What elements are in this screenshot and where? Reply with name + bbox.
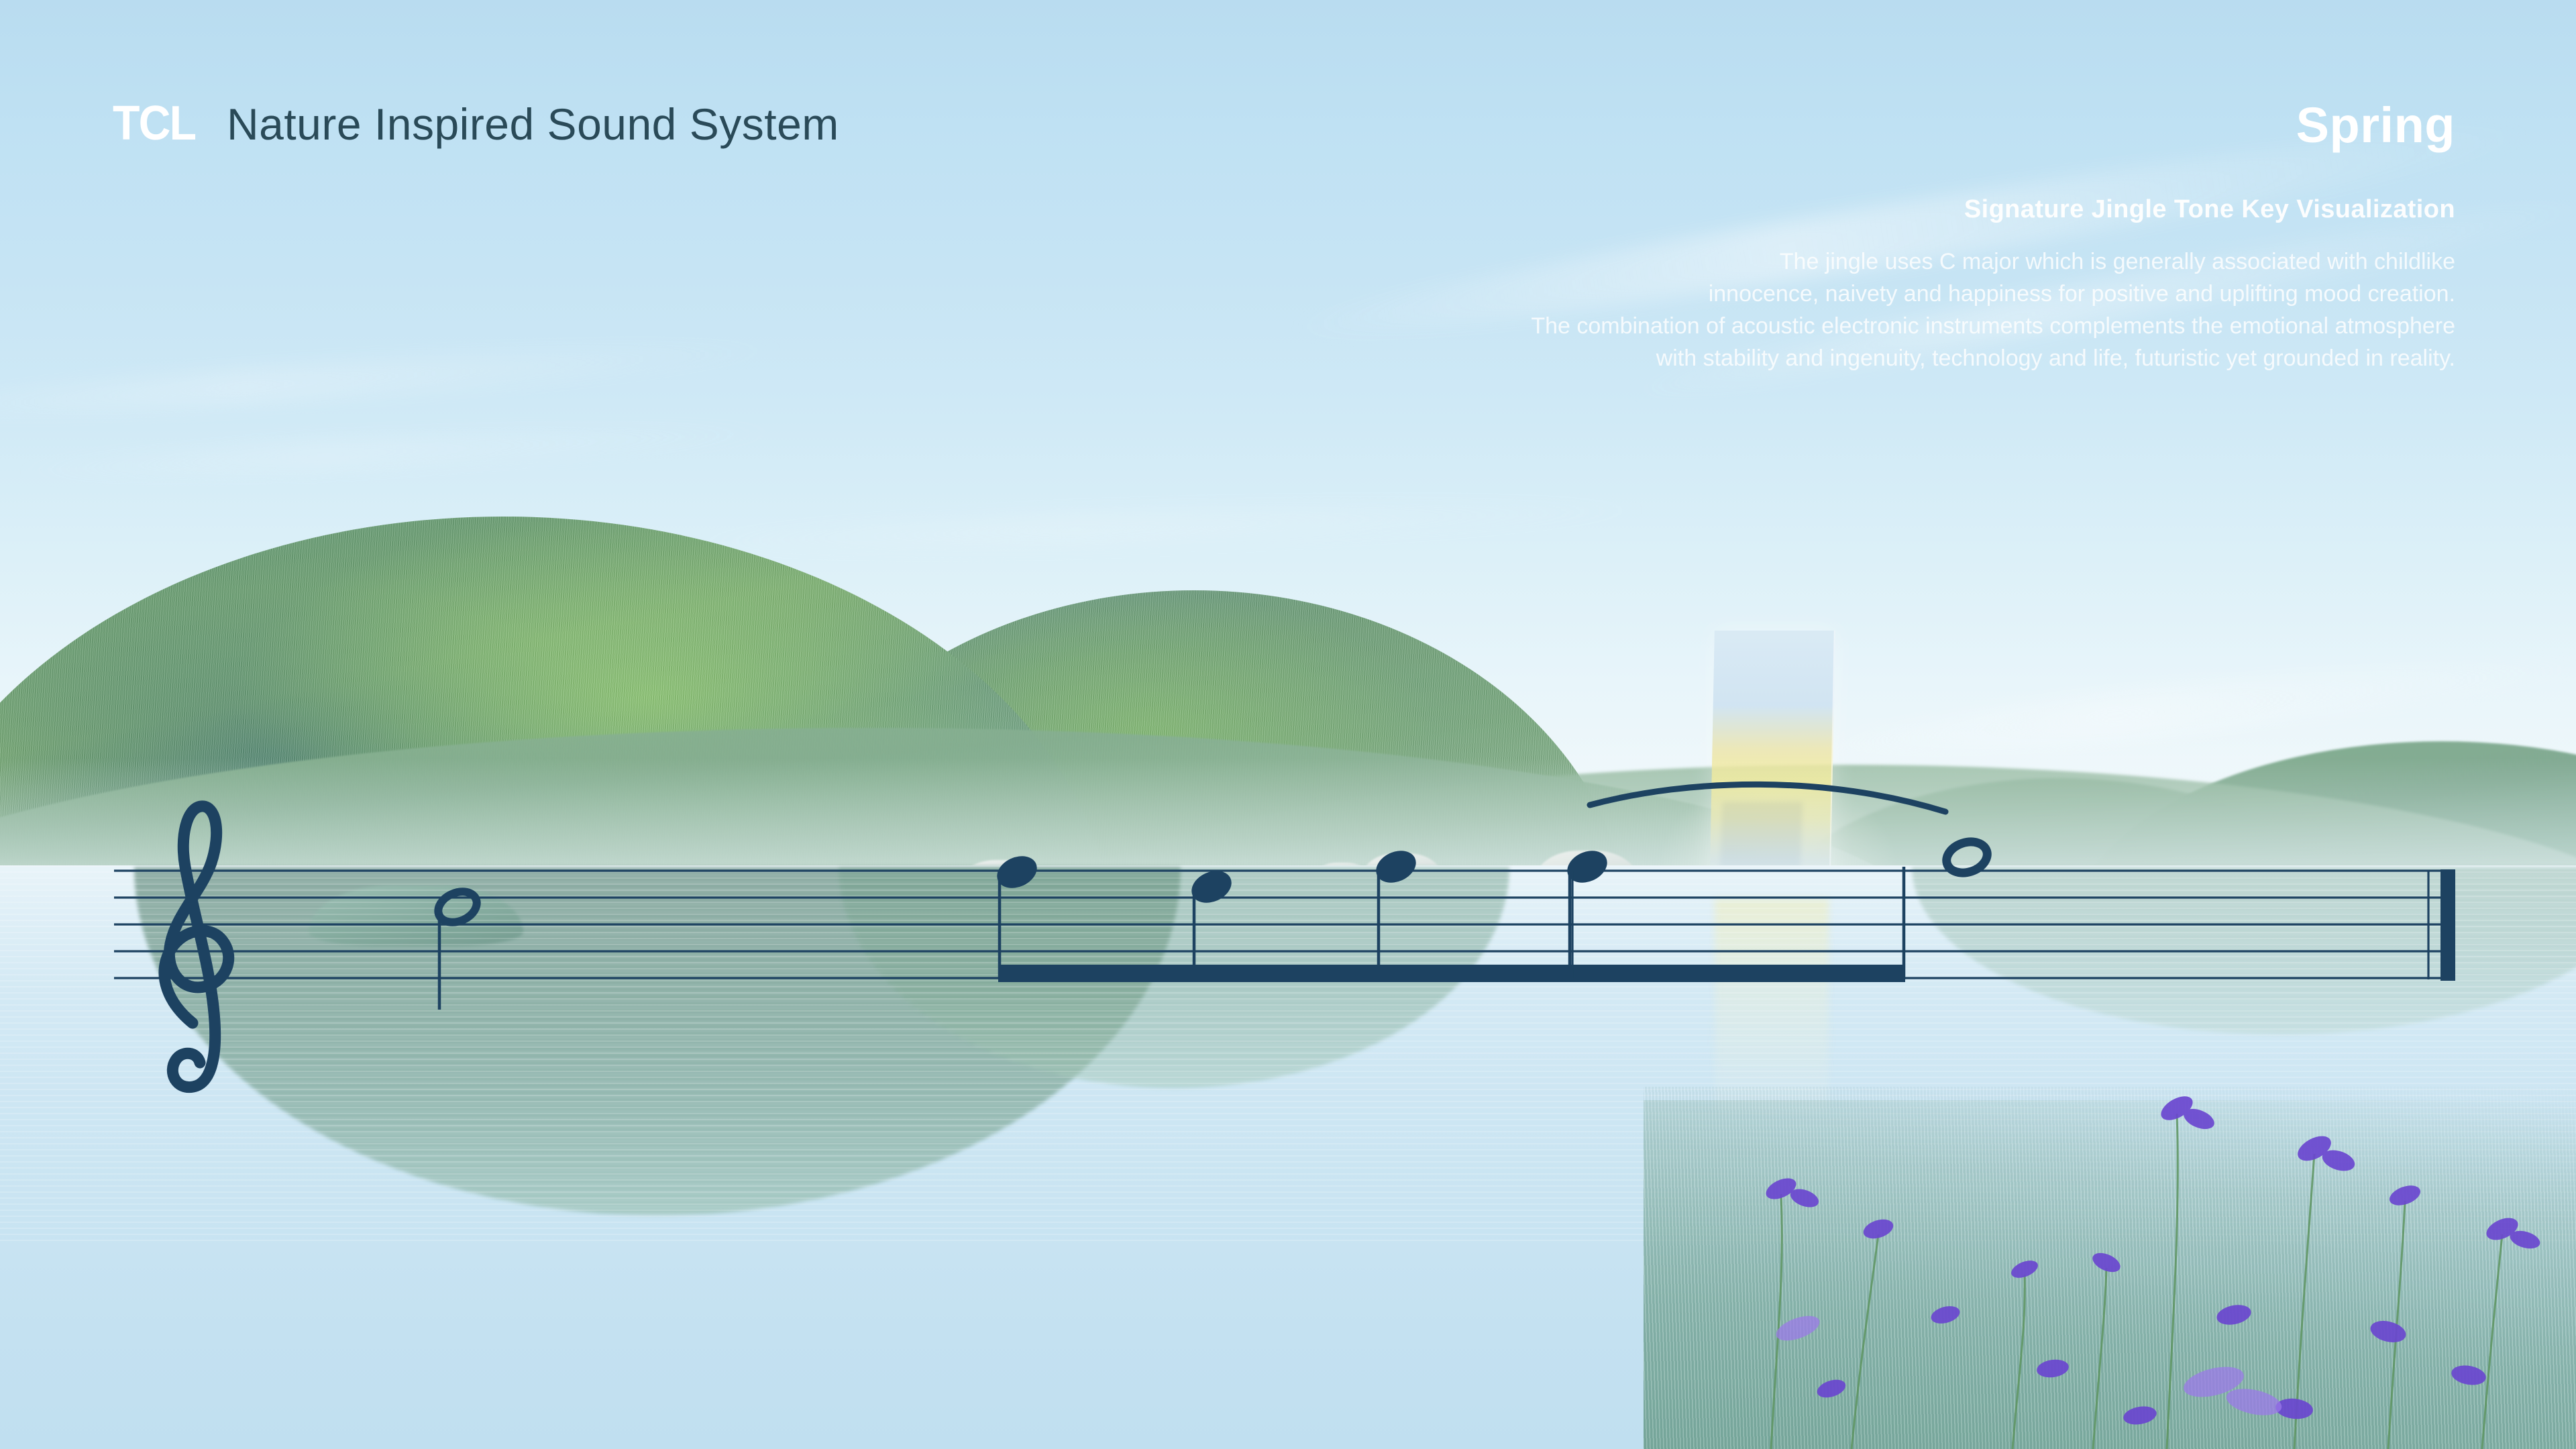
caption-line: The jingle uses C major which is general… [1315,246,2455,278]
caption-title: Signature Jingle Tone Key Visualization [1315,195,2455,225]
monolith-reflection [1715,899,1829,1114]
header-overlay: TCL Nature Inspired Sound System Spring … [0,0,2576,376]
tcl-wordmark-logo: TCL [113,99,195,148]
season-label: Spring [2296,101,2455,150]
caption-line: with stability and ingenuity, technology… [1315,342,2455,374]
scene-canvas: .sl { stroke:#1d4261; stroke-width:3.2; … [0,0,2576,1449]
speaker-monolith[interactable] [1709,631,1835,899]
brand-row: TCL Nature Inspired Sound System [113,99,839,148]
caption-block: Signature Jingle Tone Key Visualization … [1315,195,2455,375]
page-title: Nature Inspired Sound System [227,102,839,146]
caption-body: The jingle uses C major which is general… [1315,246,2455,375]
rock-reflection [309,885,523,946]
caption-line: The combination of acoustic electronic i… [1315,310,2455,342]
grass-blades [1644,1087,2576,1449]
caption-line: innocence, naivety and happiness for pos… [1315,278,2455,310]
